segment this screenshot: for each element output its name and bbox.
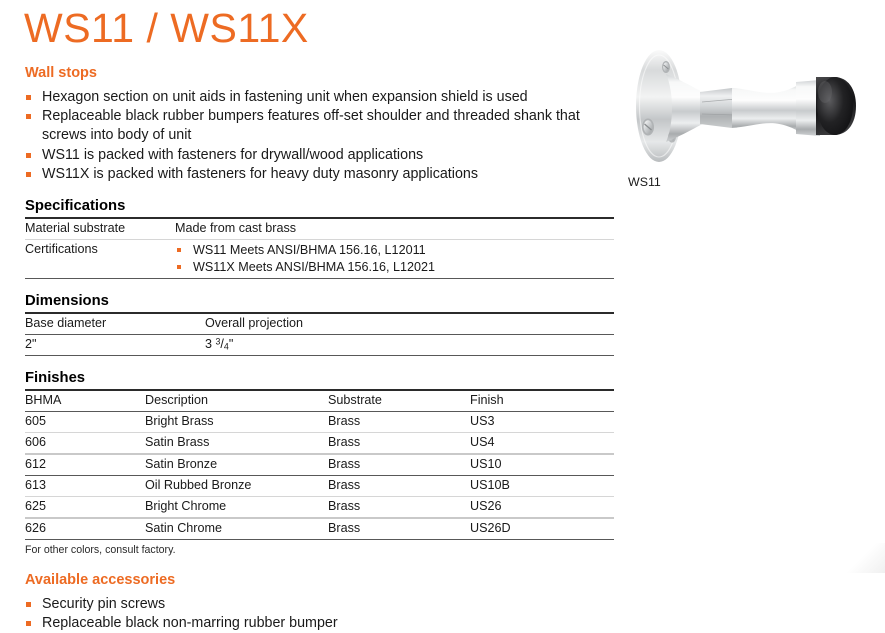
cell-finish: US4 [470,433,614,455]
list-item: WS11X Meets ANSI/BHMA 156.16, L12021 [175,259,614,276]
cell-bhma: 626 [25,518,145,540]
product-image-caption: WS11 [628,175,870,189]
certifications-value: WS11 Meets ANSI/BHMA 156.16, L12011 WS11… [175,240,614,279]
product-figure: WS11 [620,44,870,189]
column-header-description: Description [145,390,328,412]
table-row: Material substrate Made from cast brass [25,218,614,240]
list-item: Hexagon section on unit aids in fastenin… [25,88,615,107]
overall-projection-value: 3 3/4" [205,335,614,356]
table-row: 2" 3 3/4" [25,335,614,356]
table-row: Certifications WS11 Meets ANSI/BHMA 156.… [25,240,614,279]
column-header-bhma: BHMA [25,390,145,412]
dimensions-table: Base diameter Overall projection 2" 3 3/… [25,312,614,356]
cell-substrate: Brass [328,497,470,519]
table-row: 606 Satin Brass Brass US4 [25,433,614,455]
cell-description: Satin Brass [145,433,328,455]
page-curl-shadow [843,543,885,573]
cell-description: Satin Chrome [145,518,328,540]
cell-bhma: 625 [25,497,145,519]
list-item: WS11 Meets ANSI/BHMA 156.16, L12011 [175,242,614,259]
bumper-highlight [818,81,832,103]
material-substrate-label: Material substrate [25,218,175,240]
accessories-section: Available accessories Security pin screw… [25,571,615,633]
page-title: WS11 / WS11X [24,4,309,52]
table-header-row: Base diameter Overall projection [25,313,614,335]
material-substrate-value: Made from cast brass [175,218,614,240]
product-category-heading: Wall stops [25,64,615,82]
accessories-list: Security pin screws Replaceable black no… [25,595,615,633]
cell-substrate: Brass [328,433,470,455]
specifications-heading: Specifications [25,197,615,215]
feature-list: Hexagon section on unit aids in fastenin… [25,88,615,184]
projection-numerator: 3 [216,337,221,347]
cell-bhma: 605 [25,412,145,433]
list-item: Security pin screws [25,595,615,614]
table-row: 613 Oil Rubbed Bronze Brass US10B [25,476,614,497]
finishes-heading: Finishes [25,369,615,387]
list-item: Replaceable black rubber bumpers feature… [25,107,615,145]
cell-substrate: Brass [328,518,470,540]
column-header-substrate: Substrate [328,390,470,412]
finishes-table: BHMA Description Substrate Finish 605 Br… [25,389,614,540]
cell-substrate: Brass [328,476,470,497]
cell-finish: US10 [470,454,614,476]
cell-description: Satin Bronze [145,454,328,476]
cell-finish: US26D [470,518,614,540]
list-item: WS11 is packed with fasteners for drywal… [25,146,615,165]
dimensions-heading: Dimensions [25,292,615,310]
specifications-table: Material substrate Made from cast brass … [25,217,614,279]
main-content: Wall stops Hexagon section on unit aids … [25,64,615,633]
column-header-base-diameter: Base diameter [25,313,205,335]
cell-description: Bright Brass [145,412,328,433]
table-header-row: BHMA Description Substrate Finish [25,390,614,412]
cell-description: Oil Rubbed Bronze [145,476,328,497]
wall-stop-product-image [620,44,860,169]
column-header-finish: Finish [470,390,614,412]
accessories-heading: Available accessories [25,571,615,589]
certification-list: WS11 Meets ANSI/BHMA 156.16, L12011 WS11… [175,242,614,275]
cell-finish: US26 [470,497,614,519]
projection-unit: " [229,337,233,351]
table-row: 626 Satin Chrome Brass US26D [25,518,614,540]
cell-bhma: 613 [25,476,145,497]
cell-substrate: Brass [328,412,470,433]
finishes-footnote: For other colors, consult factory. [25,543,615,557]
tapered-shank [732,84,800,132]
cell-description: Bright Chrome [145,497,328,519]
table-row: 612 Satin Bronze Brass US10 [25,454,614,476]
cell-bhma: 612 [25,454,145,476]
table-row: 625 Bright Chrome Brass US26 [25,497,614,519]
base-diameter-value: 2" [25,335,205,356]
list-item: Replaceable black non-marring rubber bum… [25,614,615,633]
certifications-label: Certifications [25,240,175,279]
cell-finish: US3 [470,412,614,433]
projection-whole: 3 [205,337,212,351]
cell-bhma: 606 [25,433,145,455]
list-item: WS11X is packed with fasteners for heavy… [25,165,615,184]
column-header-overall-projection: Overall projection [205,313,614,335]
cell-substrate: Brass [328,454,470,476]
table-row: 605 Bright Brass Brass US3 [25,412,614,433]
cell-finish: US10B [470,476,614,497]
